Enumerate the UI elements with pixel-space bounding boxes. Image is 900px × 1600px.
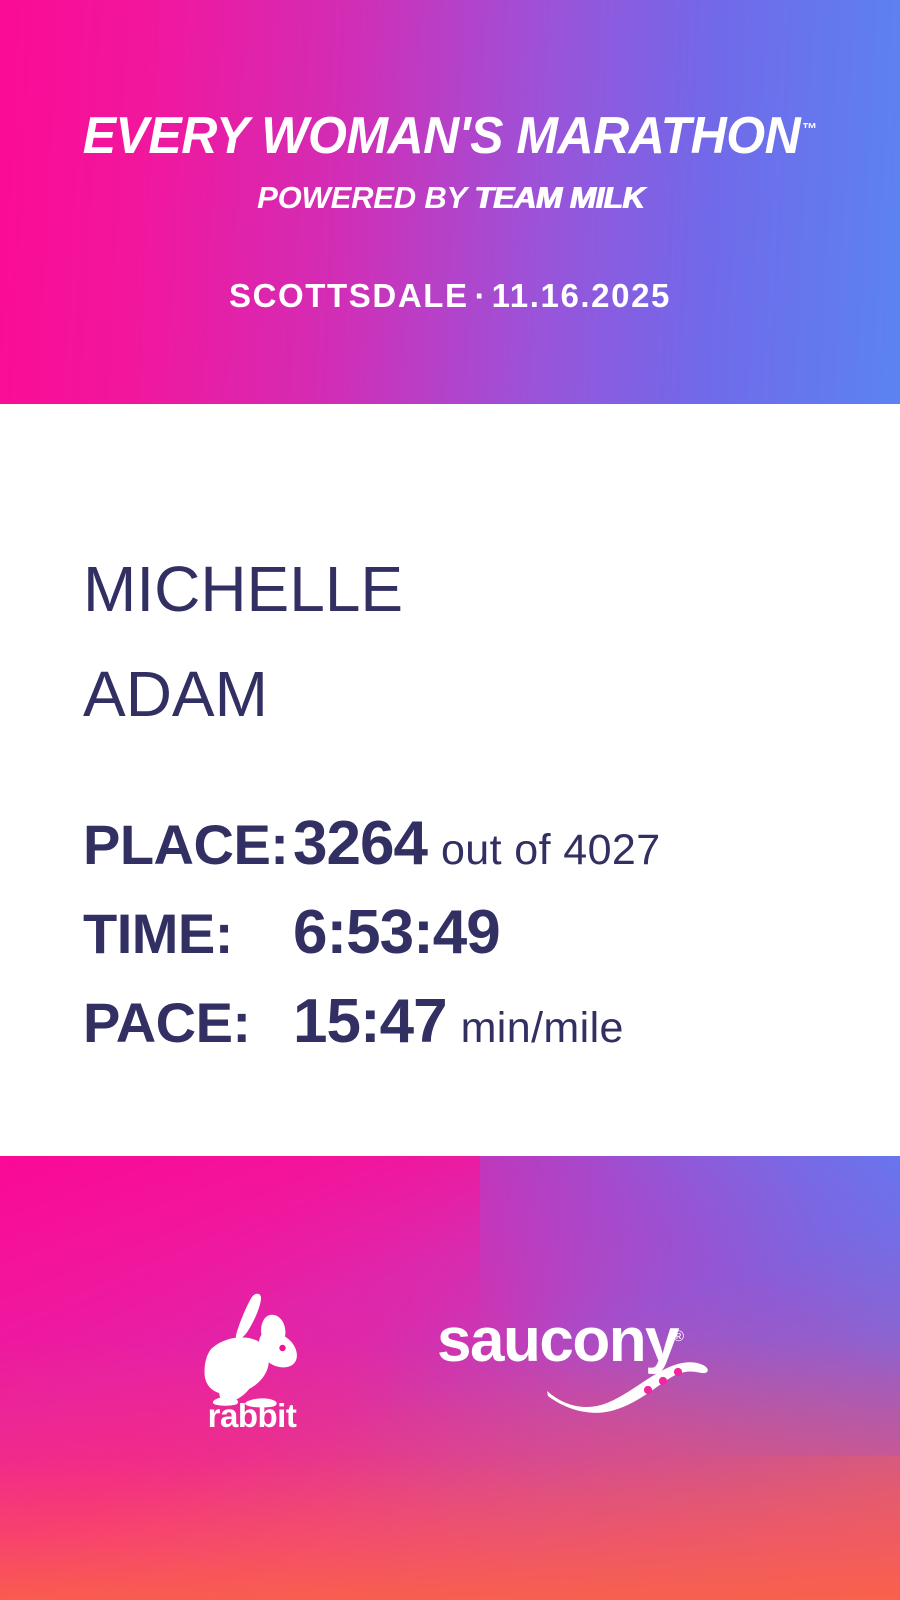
place-label: PLACE:	[83, 815, 293, 875]
time-label: TIME:	[83, 904, 293, 964]
place-suffix: out of 4027	[441, 829, 661, 872]
separator-dot: ·	[469, 277, 492, 314]
event-city: SCOTTSDALE	[229, 277, 469, 314]
stat-row-time: TIME: 6:53:49	[83, 902, 661, 991]
saucony-logo-icon: saucony ®	[435, 1299, 725, 1419]
event-date: 11.16.2025	[492, 277, 671, 314]
runner-first-name: Michelle	[83, 528, 403, 633]
team-milk-sponsor: TEAM MILK	[474, 181, 644, 215]
rabbit-logo-icon: rabbit	[175, 1286, 330, 1431]
trademark-symbol: ™	[802, 121, 817, 139]
place-value: 3264	[293, 813, 427, 875]
event-title-text: EVERY WOMAN'S MARATHON	[83, 106, 801, 164]
powered-by-label: POWERED BY	[257, 180, 467, 215]
sponsor-logos: rabbit saucony ®	[0, 1286, 900, 1431]
pace-value: 15:47	[293, 991, 447, 1053]
pace-label: PACE:	[83, 993, 293, 1053]
result-body: Michelle Adam PLACE: 3264 out of 4027 TI…	[0, 404, 900, 1156]
pace-suffix: min/mile	[461, 1007, 624, 1050]
race-result-card: EVERY WOMAN'S MARATHON™ POWERED BYTEAM M…	[0, 0, 900, 1600]
runner-last-name: Adam	[83, 633, 403, 738]
stat-row-pace: PACE: 15:47 min/mile	[83, 991, 661, 1080]
runner-name: Michelle Adam	[83, 528, 403, 738]
event-header-banner: EVERY WOMAN'S MARATHON™ POWERED BYTEAM M…	[0, 0, 900, 404]
time-value: 6:53:49	[293, 902, 500, 964]
svg-text:saucony: saucony	[437, 1306, 680, 1375]
svg-text:rabbit: rabbit	[208, 1397, 297, 1431]
stats-list: PLACE: 3264 out of 4027 TIME: 6:53:49 PA…	[83, 813, 661, 1080]
venue-date-line: SCOTTSDALE·11.16.2025	[0, 277, 900, 315]
event-title: EVERY WOMAN'S MARATHON™	[0, 102, 900, 163]
sponsor-footer-banner: rabbit saucony ®	[0, 1156, 900, 1600]
stat-row-place: PLACE: 3264 out of 4027	[83, 813, 661, 902]
svg-text:®: ®	[673, 1328, 684, 1345]
powered-by-line: POWERED BYTEAM MILK	[0, 181, 900, 215]
